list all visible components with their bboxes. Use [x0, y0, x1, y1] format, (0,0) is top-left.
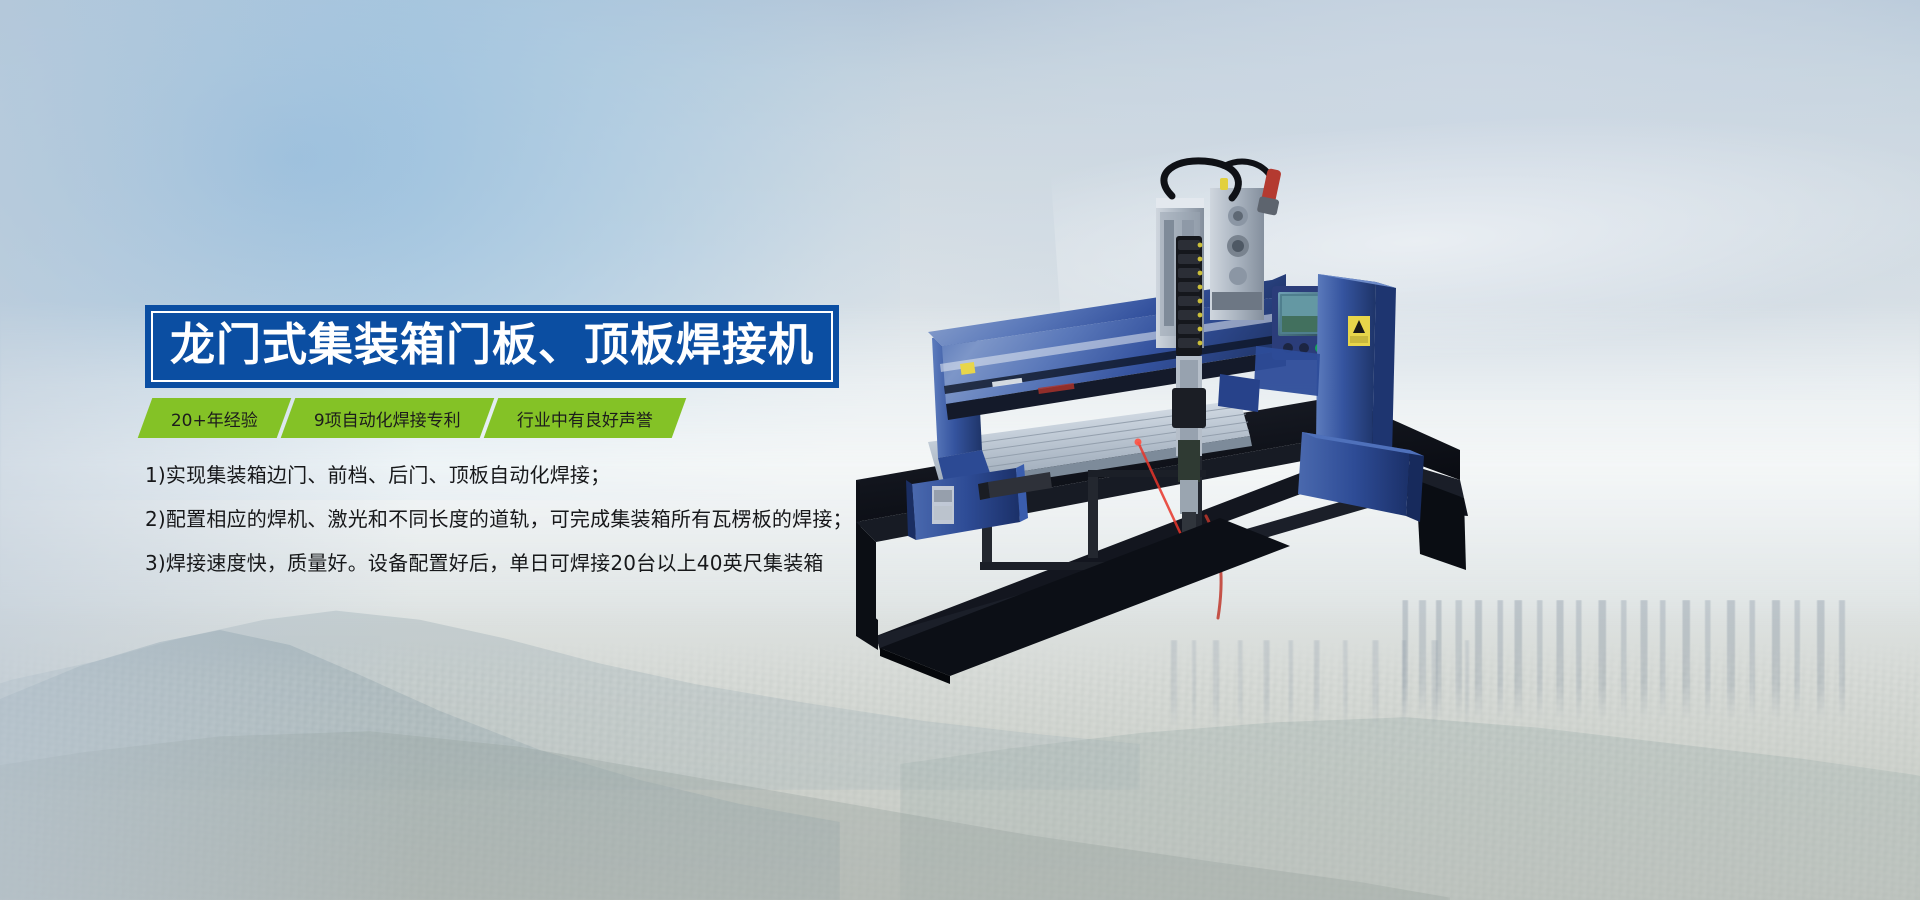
feature-bullet-2: 2)配置相应的焊机、激光和不同长度的道轨，可完成集装箱所有瓦楞板的焊接；: [145, 507, 853, 531]
feature-badge-reputation: 行业中有良好声誉: [483, 398, 686, 438]
product-image-gantry-welder: [820, 150, 1480, 670]
feature-bullet-list: 1)实现集装箱边门、前档、后门、顶板自动化焊接； 2)配置相应的焊机、激光和不同…: [145, 463, 853, 575]
banner-title-box-inner: 龙门式集装箱门板、顶板焊接机: [151, 311, 833, 382]
feature-bullet-3: 3)焊接速度快，质量好。设备配置好后，单日可焊接20台以上40英尺集装箱: [145, 551, 853, 575]
hero-banner: 龙门式集装箱门板、顶板焊接机 20+年经验 9项自动化焊接专利 行业中有良好声誉…: [0, 0, 1920, 900]
banner-title-box: 龙门式集装箱门板、顶板焊接机: [145, 305, 839, 388]
banner-content: 龙门式集装箱门板、顶板焊接机 20+年经验 9项自动化焊接专利 行业中有良好声誉…: [0, 0, 1920, 900]
feature-badge-reputation-label: 行业中有良好声誉: [517, 406, 653, 431]
feature-badge-patents-label: 9项自动化焊接专利: [314, 406, 461, 431]
gantry-welder-illustration: [820, 150, 1480, 670]
feature-badge-experience: 20+年经验: [138, 398, 291, 438]
page-title: 龙门式集装箱门板、顶板焊接机: [170, 322, 814, 367]
feature-bullet-1: 1)实现集装箱边门、前档、后门、顶板自动化焊接；: [145, 463, 853, 487]
feature-badge-list: 20+年经验 9项自动化焊接专利 行业中有良好声誉: [145, 398, 679, 438]
feature-badge-experience-label: 20+年经验: [171, 406, 258, 431]
machine-cable-chain: [1176, 236, 1202, 356]
feature-badge-patents: 9项自动化焊接专利: [281, 398, 494, 438]
machine-front-crossmember: [880, 518, 1290, 684]
